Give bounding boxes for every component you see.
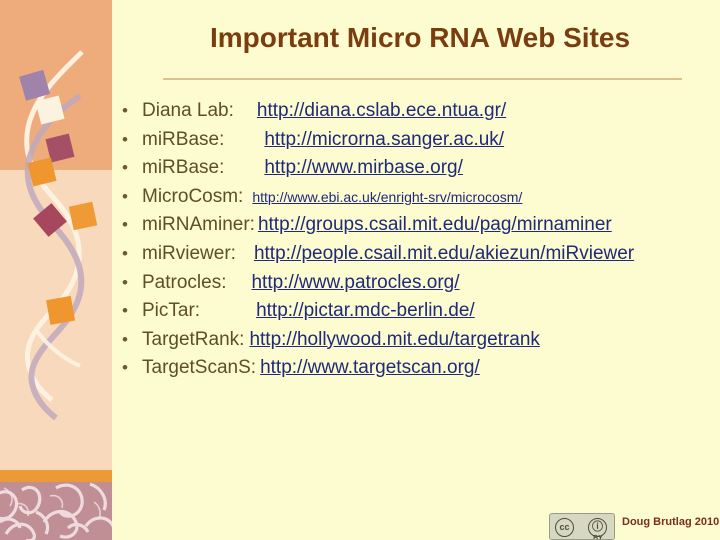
bullet-icon: • xyxy=(122,102,142,119)
sidebar-floral-pattern xyxy=(0,482,112,540)
list-item: • TargetRank: http://hollywood.mit.edu/t… xyxy=(122,329,712,358)
slide-title: Important Micro RNA Web Sites xyxy=(130,22,710,54)
site-url-link[interactable]: http://people.csail.mit.edu/akiezun/miRv… xyxy=(254,243,634,265)
bullet-icon: • xyxy=(122,188,142,205)
site-label: MicroCosm: xyxy=(142,186,243,208)
site-label: Diana Lab: xyxy=(142,100,234,122)
list-item: • MicroCosm: http://www.ebi.ac.uk/enrigh… xyxy=(122,186,712,215)
web-sites-list: • Diana Lab: http://diana.cslab.ece.ntua… xyxy=(122,100,712,386)
site-url-link[interactable]: http://hollywood.mit.edu/targetrank xyxy=(249,329,539,351)
bullet-icon: • xyxy=(122,331,142,348)
site-label: TargetRank: xyxy=(142,329,244,351)
list-item: • PicTar: http://pictar.mdc-berlin.de/ xyxy=(122,300,712,329)
site-url-link[interactable]: http://pictar.mdc-berlin.de/ xyxy=(256,300,475,322)
cc-icon: cc xyxy=(555,518,574,537)
site-url-link[interactable]: http://www.patrocles.org/ xyxy=(251,272,459,294)
site-label: PicTar: xyxy=(142,300,200,322)
site-label: miRBase: xyxy=(142,129,224,151)
attribution-text: Doug Brutlag 2010 xyxy=(622,516,719,528)
sidebar-ribbon-graphic xyxy=(0,0,112,480)
bullet-icon: • xyxy=(122,359,142,376)
site-url-link[interactable]: http://www.ebi.ac.uk/enright-srv/microco… xyxy=(252,189,522,205)
slide: Important Micro RNA Web Sites • Diana La… xyxy=(0,0,720,540)
cc-by-label: BY xyxy=(586,535,610,540)
list-item: • miRNAminer: http://groups.csail.mit.ed… xyxy=(122,214,712,243)
bullet-icon: • xyxy=(122,274,142,291)
site-label: Patrocles: xyxy=(142,272,226,294)
bullet-icon: • xyxy=(122,245,142,262)
site-url-link[interactable]: http://www.targetscan.org/ xyxy=(260,357,480,379)
title-divider xyxy=(163,78,682,80)
list-item: • Diana Lab: http://diana.cslab.ece.ntua… xyxy=(122,100,712,129)
creative-commons-badge[interactable]: cc ⓘ BY xyxy=(549,513,615,540)
site-url-link[interactable]: http://www.mirbase.org/ xyxy=(264,157,463,179)
bullet-icon: • xyxy=(122,159,142,176)
site-url-link[interactable]: http://diana.cslab.ece.ntua.gr/ xyxy=(257,100,506,122)
site-label: miRviewer: xyxy=(142,243,236,265)
list-item: • Patrocles: http://www.patrocles.org/ xyxy=(122,272,712,301)
list-item: • miRBase: http://www.mirbase.org/ xyxy=(122,157,712,186)
list-item: • TargetScanS: http://www.targetscan.org… xyxy=(122,357,712,386)
site-label: miRBase: xyxy=(142,157,224,179)
bullet-icon: • xyxy=(122,131,142,148)
site-url-link[interactable]: http://groups.csail.mit.edu/pag/mirnamin… xyxy=(258,214,612,236)
site-url-link[interactable]: http://microrna.sanger.ac.uk/ xyxy=(264,129,504,151)
site-label: TargetScanS: xyxy=(142,357,256,379)
list-item: • miRBase: http://microrna.sanger.ac.uk/ xyxy=(122,129,712,158)
decorative-sidebar xyxy=(0,0,112,540)
list-item: • miRviewer: http://people.csail.mit.edu… xyxy=(122,243,712,272)
bullet-icon: • xyxy=(122,216,142,233)
bullet-icon: • xyxy=(122,302,142,319)
sidebar-accent-bar xyxy=(0,470,112,482)
site-label: miRNAminer: xyxy=(142,214,255,236)
